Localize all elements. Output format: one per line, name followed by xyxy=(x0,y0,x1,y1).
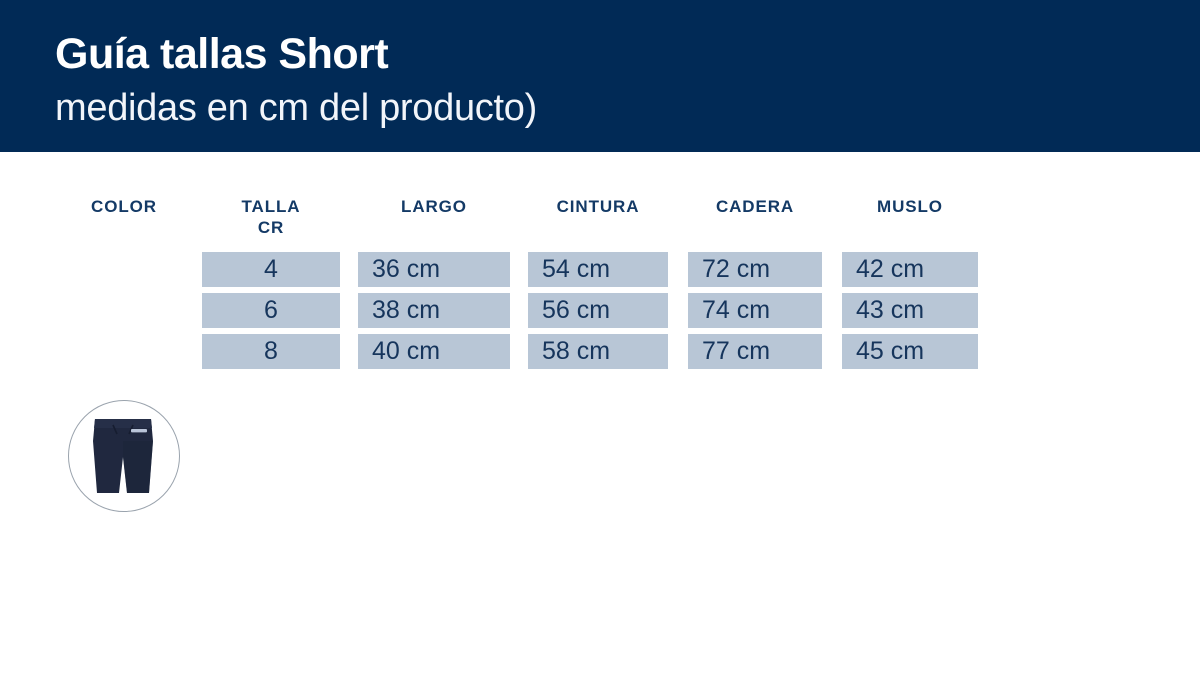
product-color-swatch xyxy=(68,400,180,512)
navy-shorts-icon xyxy=(69,401,177,509)
table-cells: 4 36 cm 54 cm 72 cm 42 cm 6 38 cm 56 cm … xyxy=(0,152,1000,382)
table-row: 38 cm xyxy=(358,293,510,328)
table-row: 43 cm xyxy=(842,293,978,328)
table-row: 36 cm xyxy=(358,252,510,287)
table-row: 45 cm xyxy=(842,334,978,369)
table-row: 40 cm xyxy=(358,334,510,369)
size-table: COLOR TALLA CR LARGO CINTURA CADERA MUSL… xyxy=(0,152,1200,697)
header-band: Guía tallas Short medidas en cm del prod… xyxy=(0,0,1200,152)
page-subtitle: medidas en cm del producto) xyxy=(55,88,537,130)
table-row: 8 xyxy=(202,334,340,369)
table-row: 74 cm xyxy=(688,293,822,328)
table-row: 4 xyxy=(202,252,340,287)
table-row: 6 xyxy=(202,293,340,328)
table-row: 56 cm xyxy=(528,293,668,328)
table-row: 72 cm xyxy=(688,252,822,287)
page-title: Guía tallas Short xyxy=(55,32,388,77)
table-row: 58 cm xyxy=(528,334,668,369)
table-row: 54 cm xyxy=(528,252,668,287)
table-row: 77 cm xyxy=(688,334,822,369)
table-row: 42 cm xyxy=(842,252,978,287)
